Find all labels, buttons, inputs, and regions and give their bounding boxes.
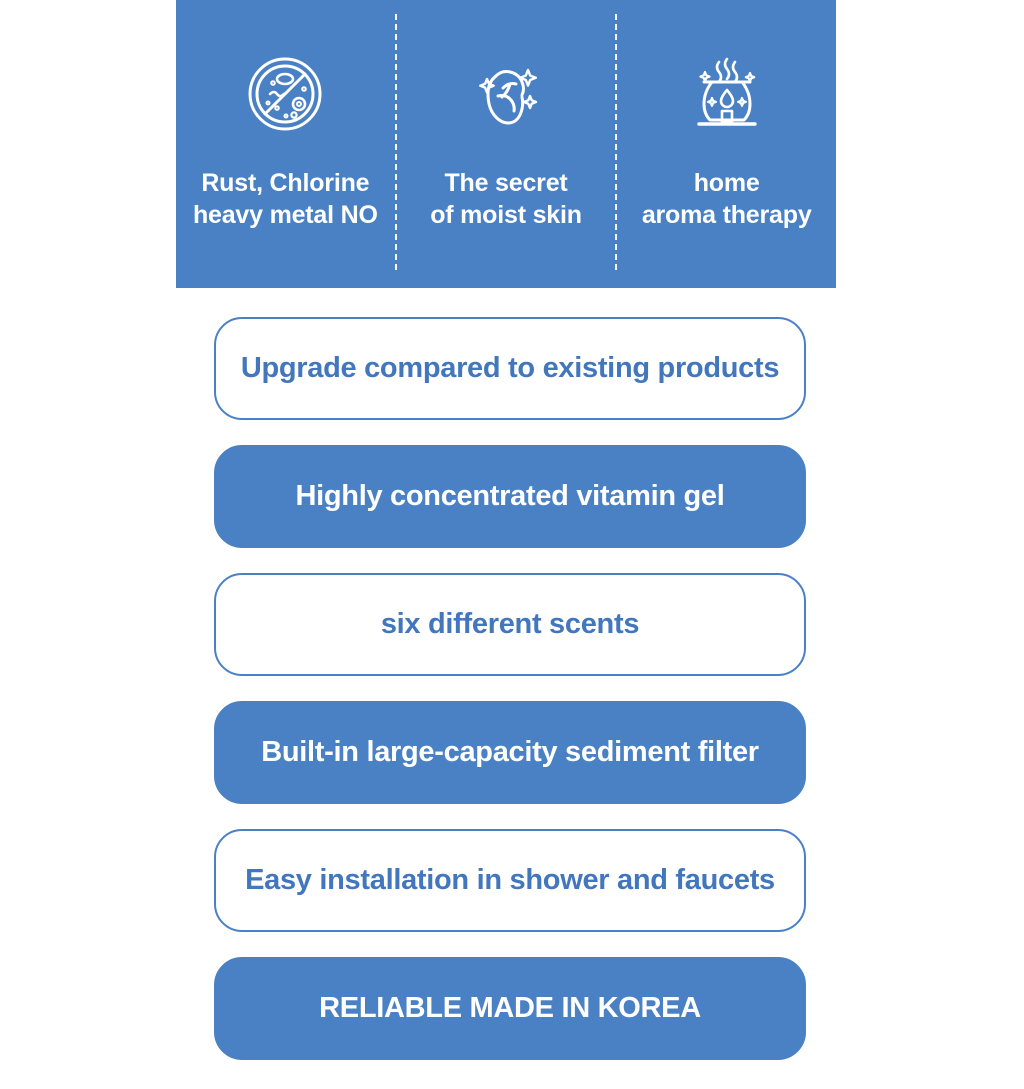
banner-column-aroma-therapy: home aroma therapy [617, 0, 836, 288]
banner-column-label: Rust, Chlorine heavy metal NO [193, 168, 378, 231]
aroma-diffuser-icon [679, 46, 775, 142]
feature-pill-list: Upgrade compared to existing products Hi… [214, 317, 806, 1060]
feature-pill-sediment-filter[interactable]: Built-in large-capacity sediment filter [214, 701, 806, 804]
banner-column-rust-chlorine: Rust, Chlorine heavy metal NO [176, 0, 395, 288]
no-germs-icon [237, 46, 333, 142]
banner-column-label: The secret of moist skin [430, 168, 582, 231]
feature-pill-six-scents[interactable]: six different scents [214, 573, 806, 676]
feature-banner: Rust, Chlorine heavy metal NO The secret… [176, 0, 836, 288]
heart-sparkle-icon [458, 46, 554, 142]
banner-column-moist-skin: The secret of moist skin [397, 0, 616, 288]
banner-column-label: home aroma therapy [642, 168, 812, 231]
feature-pill-upgrade[interactable]: Upgrade compared to existing products [214, 317, 806, 420]
feature-pill-easy-installation[interactable]: Easy installation in shower and faucets [214, 829, 806, 932]
feature-pill-vitamin-gel[interactable]: Highly concentrated vitamin gel [214, 445, 806, 548]
feature-pill-made-in-korea[interactable]: RELIABLE MADE IN KOREA [214, 957, 806, 1060]
